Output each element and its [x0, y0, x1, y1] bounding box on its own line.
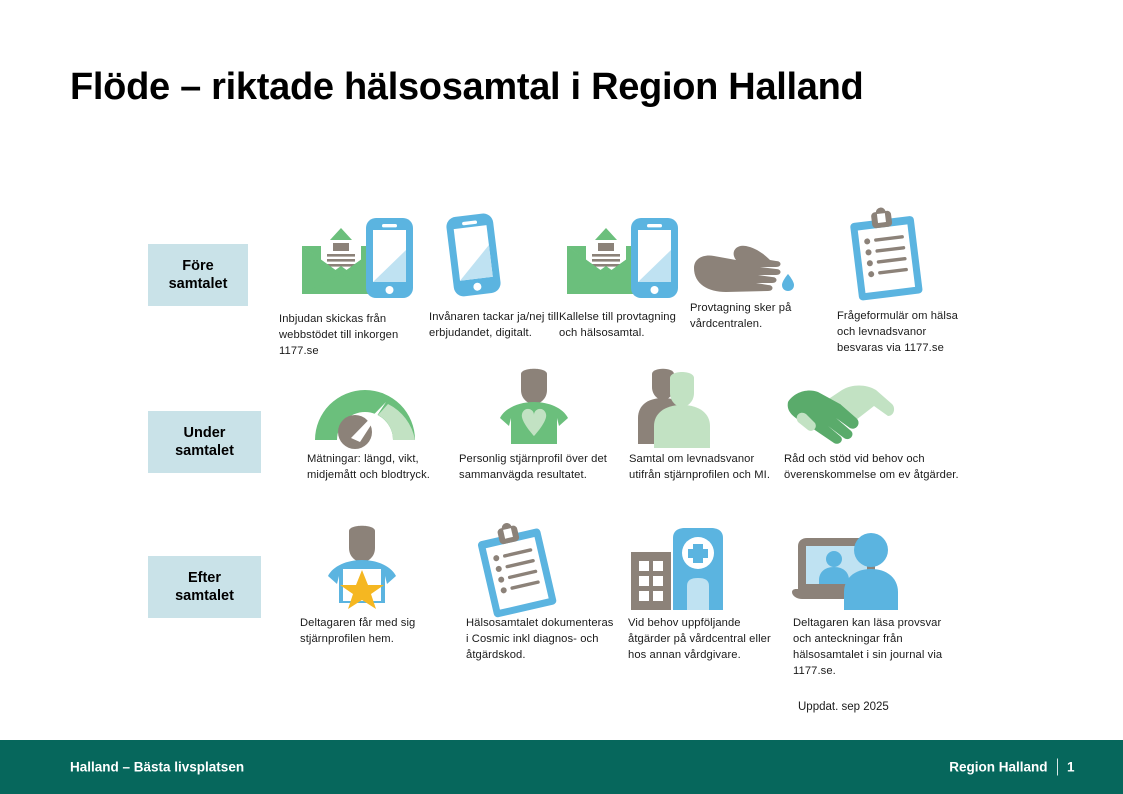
envelope-phone-icon: [280, 210, 420, 305]
stage-label-line2: samtalet: [175, 443, 234, 459]
clipboard-tilted-icon: [466, 518, 566, 618]
step-caption: Frågeformulär om hälsa och levnadsvanor …: [837, 309, 967, 357]
hospital-building-icon: [628, 528, 728, 610]
step-caption: Råd och stöd vid behov och överenskommel…: [784, 452, 964, 484]
footer-right: Region Halland 1: [949, 759, 1075, 776]
footer-bar: Halland – Bästa livsplatsen Region Halla…: [0, 740, 1123, 794]
page-title: Flöde – riktade hälsosamtal i Region Hal…: [70, 66, 863, 109]
slide: Flöde – riktade hälsosamtal i Region Hal…: [0, 0, 1123, 794]
stage-label-line1: Före: [182, 258, 213, 274]
clipboard-checklist-icon: [838, 205, 938, 305]
updated-note: Uppdat. sep 2025: [798, 701, 889, 713]
person-heart-shirt-icon: [491, 368, 577, 448]
stage-label-line2: samtalet: [175, 588, 234, 604]
step-caption: Hälsosamtalet dokumenteras i Cosmic inkl…: [466, 616, 616, 664]
step-caption: Samtal om levnadsvanor utifrån stjärnpro…: [629, 452, 774, 484]
stage-label-fore: Före samtalet: [148, 244, 248, 306]
footer-page-number: 1: [1067, 760, 1075, 775]
step-caption: Mätningar: längd, vikt, midjemått och bl…: [307, 452, 447, 484]
stage-label-line1: Efter: [188, 570, 221, 586]
step-caption: Deltagaren kan läsa provsvar och anteckn…: [793, 616, 943, 680]
stage-label-line2: samtalet: [169, 276, 228, 292]
footer-org: Region Halland: [949, 760, 1047, 775]
two-persons-icon: [632, 368, 718, 448]
gauge-meter-icon: [310, 380, 420, 448]
footer-divider: [1057, 759, 1059, 776]
hand-blood-drop-icon: [690, 240, 800, 302]
step-caption: Invånaren tackar ja/nej till erbjudandet…: [429, 310, 559, 342]
handshake-icon: [784, 380, 896, 444]
person-star-shirt-icon: [320, 525, 406, 610]
step-caption: Deltagaren får med sig stjärnprofilen he…: [300, 616, 440, 648]
step-caption: Inbjudan skickas från webbstödet till in…: [279, 312, 409, 360]
laptop-person-icon: [790, 528, 900, 613]
step-caption: Vid behov uppföljande åtgärder på vårdce…: [628, 616, 773, 664]
stage-label-under: Under samtalet: [148, 411, 261, 473]
stage-label-efter: Efter samtalet: [148, 556, 261, 618]
envelope-phone-icon: [545, 210, 685, 305]
smartphone-icon: [436, 208, 511, 303]
step-caption: Kallelse till provtagning och hälsosamta…: [559, 310, 689, 342]
stage-label-line1: Under: [184, 425, 226, 441]
step-caption: Personlig stjärnprofil över det sammanvä…: [459, 452, 619, 484]
step-caption: Provtagning sker på vårdcentralen.: [690, 301, 820, 333]
footer-slogan: Halland – Bästa livsplatsen: [70, 760, 244, 775]
